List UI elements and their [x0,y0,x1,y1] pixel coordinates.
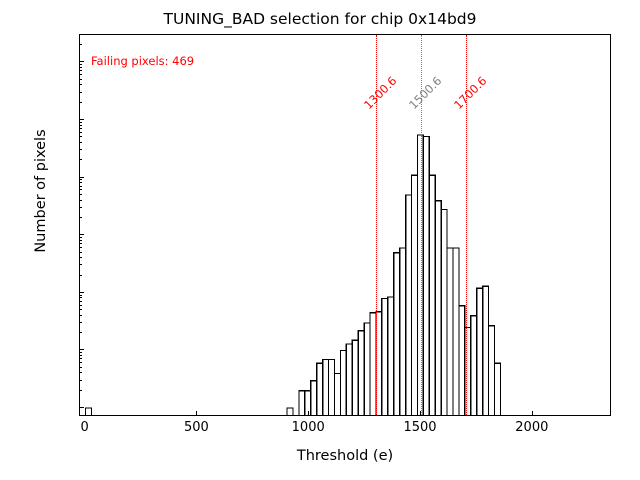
histogram-figure: TUNING_BAD selection for chip 0x14bd9 Nu… [0,0,640,480]
x-tick-label: 1000 [292,420,325,435]
x-tick-label: 1500 [403,420,436,435]
x-axis-label: Threshold (e) [79,448,611,464]
x-tick-label: 0 [80,420,88,435]
plot-area [79,34,611,416]
y-axis-label: Number of pixels [33,66,49,316]
histogram-series [80,35,611,416]
x-tick-label: 500 [184,420,209,435]
page-title: TUNING_BAD selection for chip 0x14bd9 [0,10,640,28]
failing-pixels-annotation: Failing pixels: 469 [91,54,194,68]
x-tick-label: 2000 [515,420,548,435]
